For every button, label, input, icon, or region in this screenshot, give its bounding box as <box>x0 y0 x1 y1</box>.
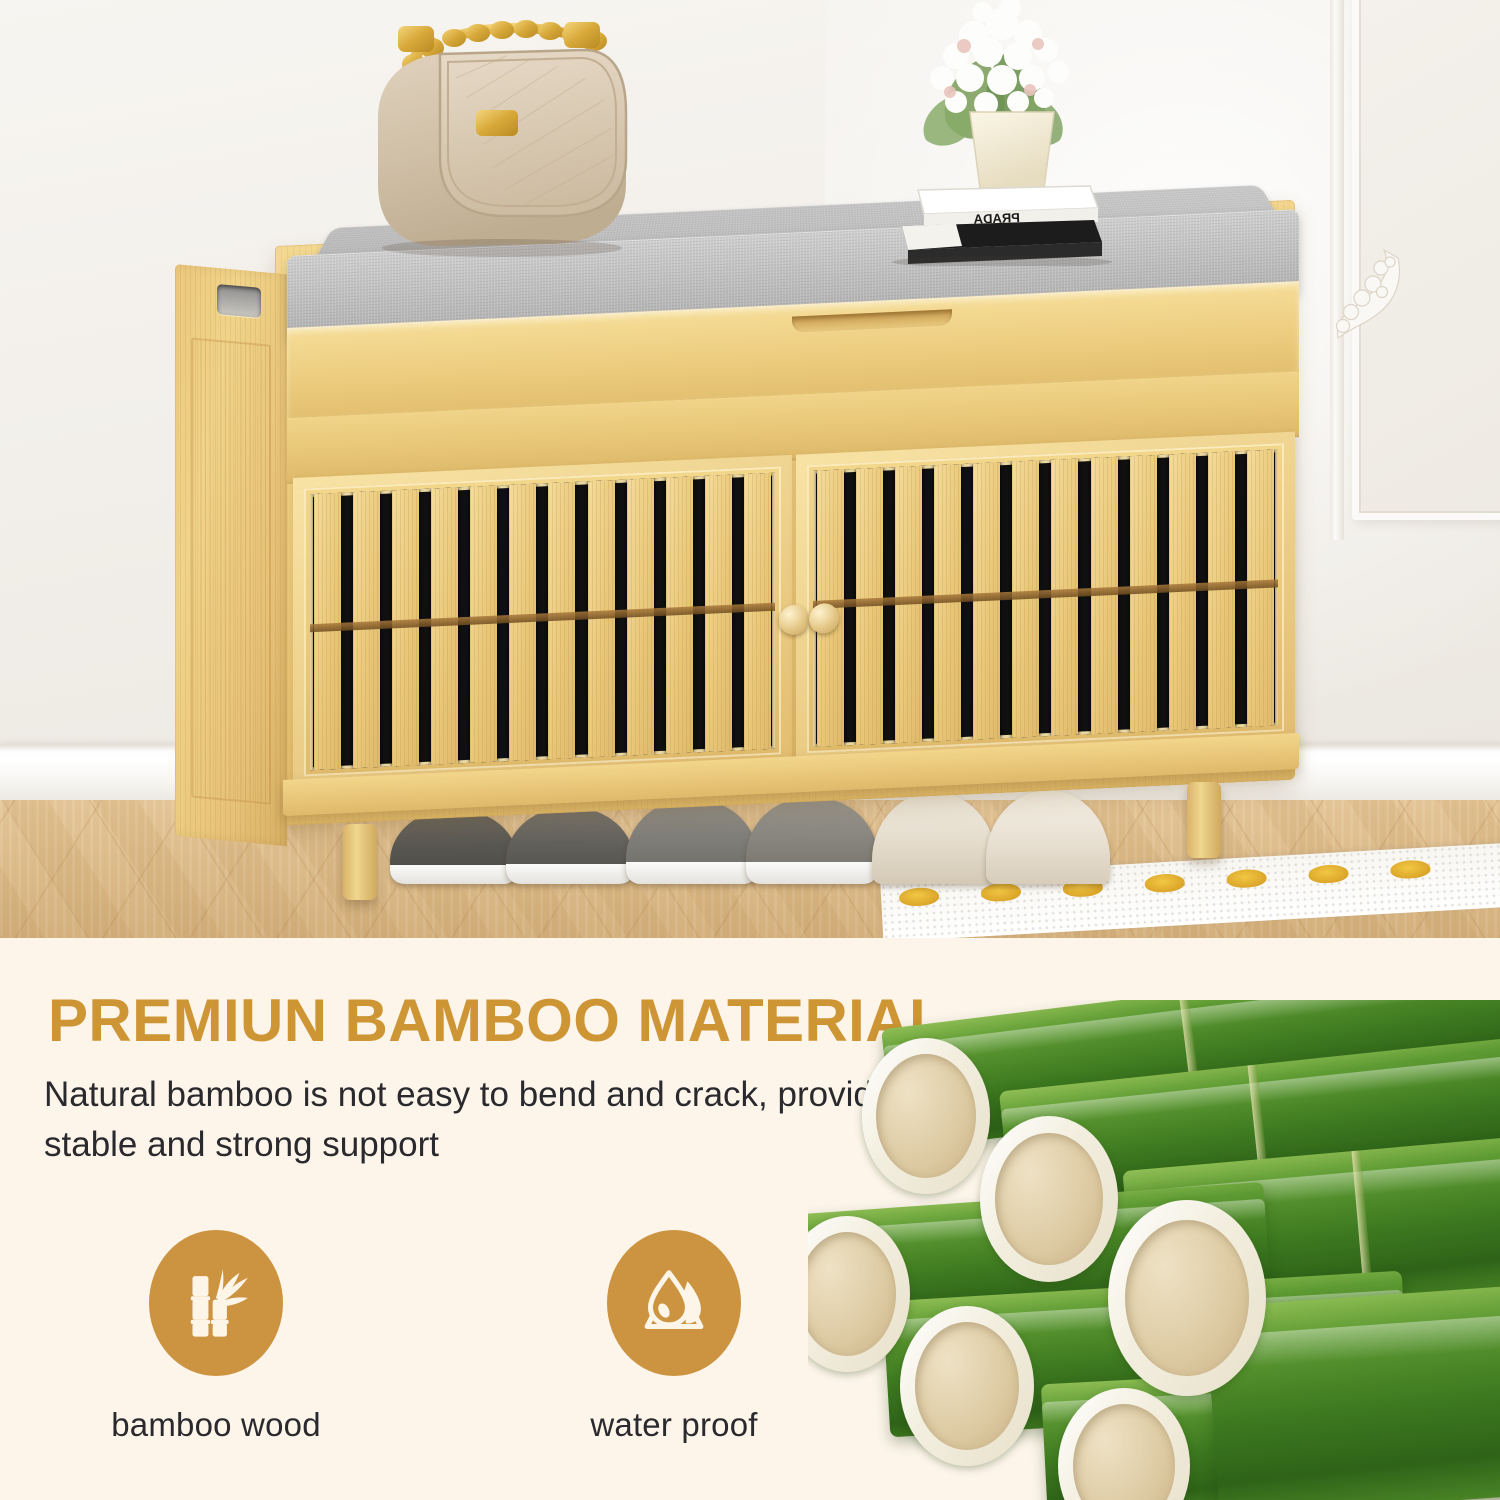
info-panel: PREMIUN BAMBOO MATERIAL Natural bamboo i… <box>0 938 1500 1500</box>
molding-scroll-ornament-icon <box>1332 246 1424 376</box>
bamboo-wood-badge <box>149 1230 283 1376</box>
feature-bamboo-wood: bamboo wood <box>96 1230 336 1444</box>
feature-label-water-proof: water proof <box>554 1406 794 1444</box>
door-left-slat-panel <box>310 473 775 771</box>
bamboo-poles-photo <box>808 1000 1500 1500</box>
cabinet-door-right <box>796 432 1295 765</box>
lid-finger-pull-handle <box>792 309 952 332</box>
product-photo: PRADA <box>0 0 1500 938</box>
side-cutout-handle <box>217 284 261 318</box>
feature-water-proof: water proof <box>554 1230 794 1444</box>
water-proof-badge <box>607 1230 741 1376</box>
storage-bench <box>175 228 1295 868</box>
handbag <box>336 8 652 260</box>
bamboo-stalks-icon <box>174 1261 258 1345</box>
feature-label-bamboo-wood: bamboo wood <box>96 1406 336 1444</box>
water-drop-icon <box>632 1261 716 1345</box>
door-right-slat-panel <box>813 449 1278 747</box>
cabinet-door-left <box>293 455 792 788</box>
cabinet-doors <box>293 432 1295 788</box>
feature-badges: bamboo wood water proof <box>96 1230 794 1444</box>
bench-leg-right <box>1187 782 1221 858</box>
bench-leg-left <box>343 824 377 900</box>
product-marketing-image: PRADA PREMIUN BAMBOO MATERIAL Natural ba… <box>0 0 1500 1500</box>
side-panel-inset <box>191 337 271 804</box>
book-stack-with-plant: PRADA <box>806 0 1156 266</box>
bench-side-panel <box>175 264 287 846</box>
